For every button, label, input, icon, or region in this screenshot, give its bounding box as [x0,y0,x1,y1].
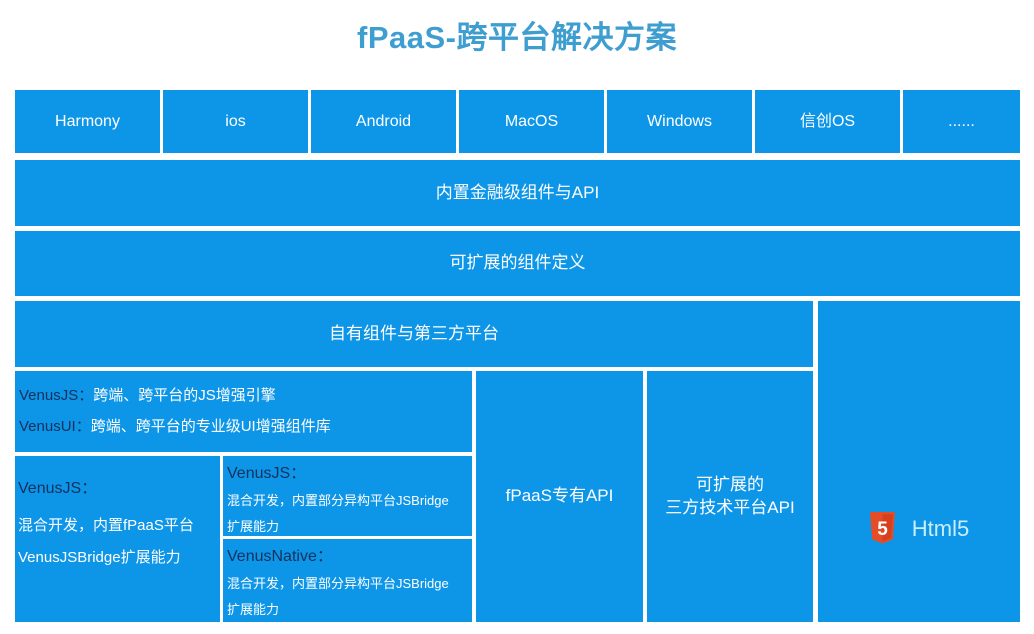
fpaas-proprietary-api-box[interactable]: fPaaS专有API [476,371,643,622]
page-title-text: fPaaS-跨平台解决方案 [357,20,677,55]
html5-box[interactable]: 5 Html5 [818,301,1020,622]
venus-description-box[interactable]: VenusJS：跨端、跨平台的JS增强引擎 VenusUI：跨端、跨平台的专业级… [15,371,472,452]
third-party-tech-api-box[interactable]: 可扩展的 三方技术平台API [647,371,813,622]
os-cell-xinchuang-os[interactable]: 信创OS [755,90,900,153]
venusjs-text: 跨端、跨平台的JS增强引擎 [93,387,276,404]
venusjs-hybrid-heading: VenusJS： [18,468,217,510]
os-cell-label: Windows [647,111,712,133]
venusjs-heterogeneous-box[interactable]: VenusJS： 混合开发，内置部分异构平台JSBridge 扩展能力 [223,456,472,536]
venusjs-heterogeneous-heading: VenusJS： [227,460,468,488]
os-cell-windows[interactable]: Windows [607,90,752,153]
os-cell-label: Android [356,111,411,133]
venusjs-heterogeneous-line-1: 混合开发，内置部分异构平台JSBridge [227,488,468,514]
venusjs-hybrid-line-1: 混合开发，内置fPaaS平台 [18,510,217,542]
page-title: fPaaS-跨平台解决方案 [0,18,1034,58]
venusjs-hybrid-line-2: VenusJSBridge扩展能力 [18,542,217,574]
os-cell-ios[interactable]: ios [163,90,308,153]
band-label: 内置金融级组件与API [436,182,599,205]
band-builtin-financial-components[interactable]: 内置金融级组件与API [15,160,1020,226]
os-cell-label: ...... [948,111,975,133]
fpaas-proprietary-api-label: fPaaS专有API [506,485,614,508]
third-party-api-line-1: 可扩展的 [665,474,794,497]
venusnative-line-1: 混合开发，内置部分异构平台JSBridge [227,571,468,597]
svg-text:5: 5 [877,519,888,540]
os-cell-label: Harmony [55,111,120,133]
os-cell-android[interactable]: Android [311,90,456,153]
os-cell-macos[interactable]: MacOS [459,90,604,153]
venusjs-label: VenusJS： [19,387,93,404]
os-cell-label: 信创OS [800,111,855,133]
venusnative-heterogeneous-box[interactable]: VenusNative： 混合开发，内置部分异构平台JSBridge 扩展能力 [223,539,472,622]
venusui-text: 跨端、跨平台的专业级UI增强组件库 [91,418,331,435]
band-label: 可扩展的组件定义 [450,252,586,275]
band-label: 自有组件与第三方平台 [329,323,499,346]
venus-description-line: VenusUI：跨端、跨平台的专业级UI增强组件库 [19,411,468,442]
venusnative-line-2: 扩展能力 [227,597,468,622]
os-cell-label: MacOS [505,111,558,133]
os-cell-harmony[interactable]: Harmony [15,90,160,153]
band-extensible-component-definition[interactable]: 可扩展的组件定义 [15,231,1020,296]
venusjs-hybrid-box[interactable]: VenusJS： 混合开发，内置fPaaS平台 VenusJSBridge扩展能… [15,456,220,622]
venusui-label: VenusUI： [19,418,91,435]
html5-shield-icon: 5 [869,512,896,546]
html5-label: Html5 [912,518,969,540]
venusjs-heterogeneous-line-2: 扩展能力 [227,514,468,536]
venusnative-heading: VenusNative： [227,543,468,571]
os-cell-label: ios [225,111,245,133]
third-party-api-line-2: 三方技术平台API [665,497,794,520]
band-own-and-third-party-platform[interactable]: 自有组件与第三方平台 [15,301,813,367]
venus-description-line: VenusJS：跨端、跨平台的JS增强引擎 [19,380,468,411]
os-cell-more[interactable]: ...... [903,90,1020,153]
